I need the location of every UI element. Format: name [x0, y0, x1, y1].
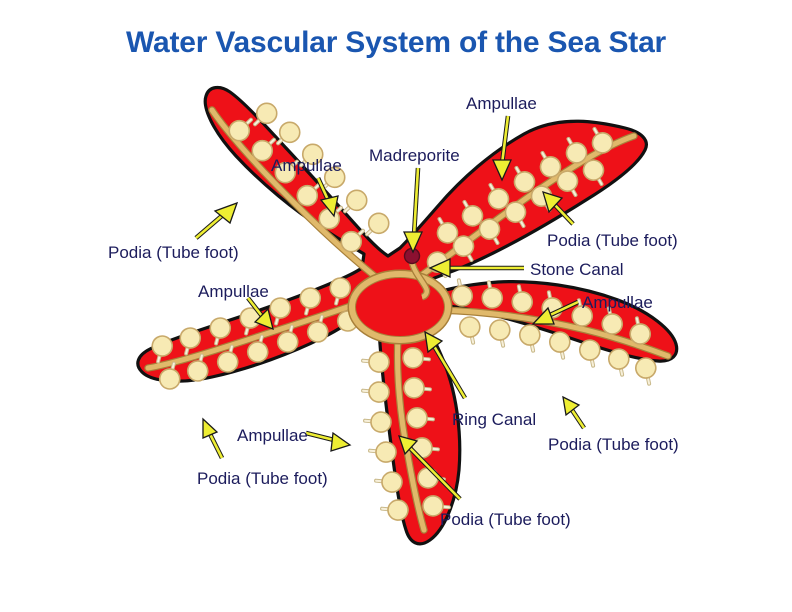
arrow-ampullae-bottom-left: [306, 433, 350, 451]
sea-star-diagram: [0, 0, 792, 612]
arrow-podia-left-upper: [196, 203, 237, 238]
ring-canal-interior: [356, 278, 444, 336]
label-podia-right-upper: Podia (Tube foot): [547, 232, 678, 249]
label-ampullae-right-mid: Ampullae: [582, 294, 653, 311]
arrow-podia-right-lower: [563, 397, 584, 428]
label-podia-left-lower: Podia (Tube foot): [197, 470, 328, 487]
label-madreporite: Madreporite: [369, 147, 460, 164]
label-ampullae-bottom-left: Ampullae: [237, 427, 308, 444]
label-stone-canal: Stone Canal: [530, 261, 624, 278]
label-ampullae-left-mid: Ampullae: [198, 283, 269, 300]
arrow-madreporite: [404, 168, 422, 252]
slide-canvas: Water Vascular System of the Sea Star: [0, 0, 792, 612]
ring-canal-structure: [352, 274, 448, 340]
label-podia-bottom: Podia (Tube foot): [440, 511, 571, 528]
arrow-podia-left-lower: [203, 419, 222, 458]
label-podia-left-upper: Podia (Tube foot): [108, 244, 239, 261]
label-ring-canal: Ring Canal: [452, 411, 536, 428]
label-podia-right-lower: Podia (Tube foot): [548, 436, 679, 453]
label-ampullae-top-right: Ampullae: [466, 95, 537, 112]
label-ampullae-upper-left: Ampullae: [271, 157, 342, 174]
